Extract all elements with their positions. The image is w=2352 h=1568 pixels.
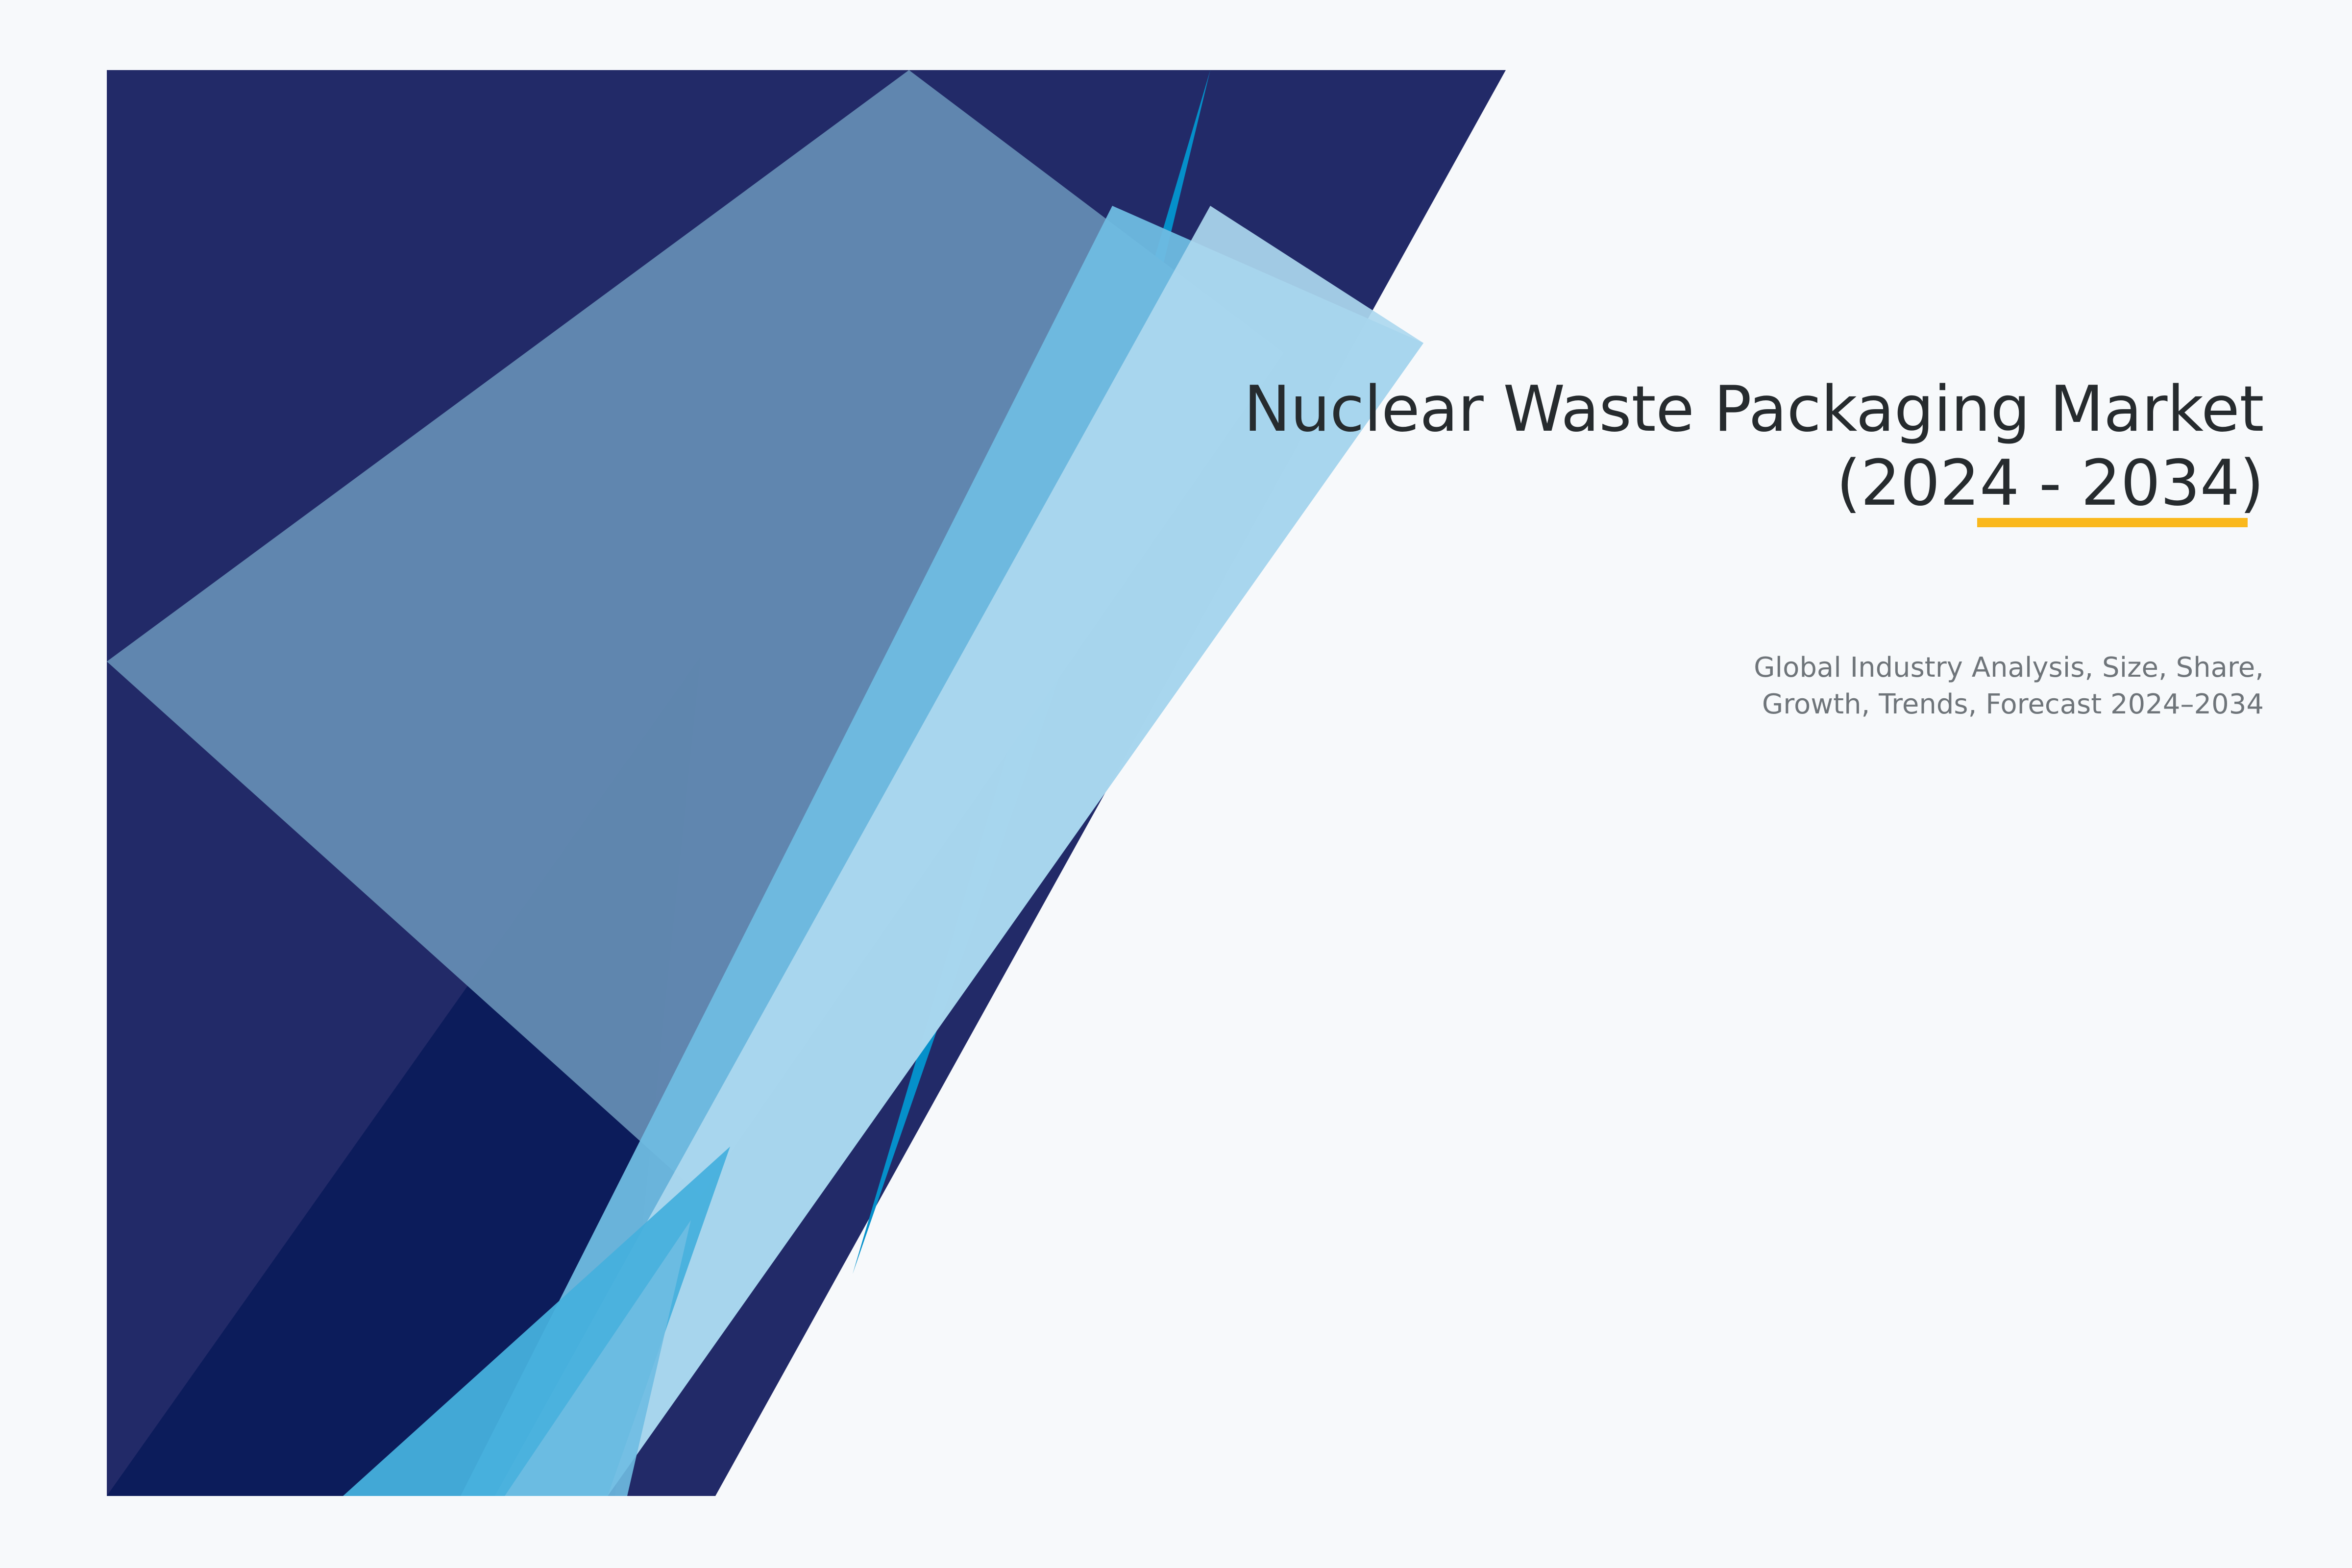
page-title: Nuclear Waste Packaging Market (2024 - 2… (1009, 372, 2264, 520)
report-cover-page: Nuclear Waste Packaging Market (2024 - 2… (0, 0, 2352, 1568)
title-block: Nuclear Waste Packaging Market (2024 - 2… (1009, 372, 2264, 520)
page-subtitle: Global Industry Analysis, Size, Share, G… (1421, 649, 2264, 723)
title-accent-rule (1977, 518, 2248, 527)
cover-artwork (0, 0, 1568, 1568)
